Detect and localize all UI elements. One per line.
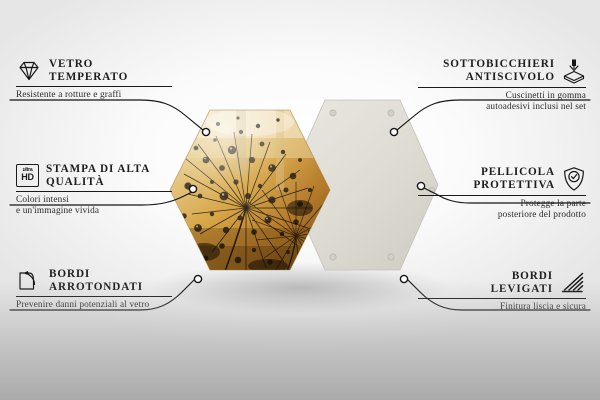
feature-title: BORDI LEVIGATI — [491, 270, 553, 295]
feature-subtitle: Cuscinetti in gomma autoadesivi inclusi … — [418, 91, 586, 112]
divider — [16, 191, 172, 192]
feature-title: PELLICOLA PROTETTIVA — [473, 166, 555, 191]
feature-vetro-temperato: VETRO TEMPERATO Resistente a rotture e g… — [16, 58, 172, 101]
feature-subtitle: Finitura liscia e sicura — [418, 302, 586, 313]
feature-header: BORDI LEVIGATI — [418, 270, 586, 295]
feature-subtitle: Prevenire danni potenziali al vetro — [16, 300, 172, 311]
diamond-icon — [16, 60, 42, 82]
infographic-canvas: VETRO TEMPERATO Resistente a rotture e g… — [0, 0, 600, 400]
divider — [418, 87, 586, 88]
feature-stampa-alta-qualita: ultra HD STAMPA DI ALTA QUALITÀ Colori i… — [16, 163, 172, 216]
feature-header: VETRO TEMPERATO — [16, 58, 172, 83]
feature-bordi-levigati: BORDI LEVIGATI Finitura liscia e sicura — [418, 270, 586, 313]
feature-header: ultra HD STAMPA DI ALTA QUALITÀ — [16, 163, 172, 188]
feature-bordi-arrotondati: BORDI ARROTONDATI Prevenire danni potenz… — [16, 268, 172, 311]
connector-nodes — [189, 128, 424, 282]
shield-check-icon — [562, 166, 586, 192]
feature-title: BORDI ARROTONDATI — [49, 268, 143, 293]
feature-header: PELLICOLA PROTETTIVA — [418, 166, 586, 192]
anti-slip-pad-icon — [562, 58, 586, 84]
hatched-edge-icon — [560, 271, 586, 295]
ultra-hd-badge-icon: ultra HD — [16, 164, 39, 187]
feature-subtitle: Protegge la parte posteriore del prodott… — [418, 199, 586, 220]
feature-subtitle: Colori intensi e un'immagine vivida — [16, 195, 172, 216]
divider — [16, 86, 172, 87]
feature-sottobicchieri-antiscivolo: SOTTOBICCHIERI ANTISCIVOLO Cuscinetti in… — [418, 58, 586, 112]
divider — [16, 296, 172, 297]
divider — [418, 298, 586, 299]
feature-header: BORDI ARROTONDATI — [16, 268, 172, 293]
feature-title: STAMPA DI ALTA QUALITÀ — [46, 163, 150, 188]
rounded-corner-icon — [16, 270, 42, 292]
feature-title: SOTTOBICCHIERI ANTISCIVOLO — [443, 58, 555, 83]
feature-subtitle: Resistente a rotture e graffi — [16, 90, 172, 101]
feature-header: SOTTOBICCHIERI ANTISCIVOLO — [418, 58, 586, 84]
feature-pellicola-protettiva: PELLICOLA PROTETTIVA Protegge la parte p… — [418, 166, 586, 220]
ultra-hd-badge-bottom: HD — [21, 173, 33, 183]
divider — [418, 195, 586, 196]
feature-title: VETRO TEMPERATO — [49, 58, 128, 83]
